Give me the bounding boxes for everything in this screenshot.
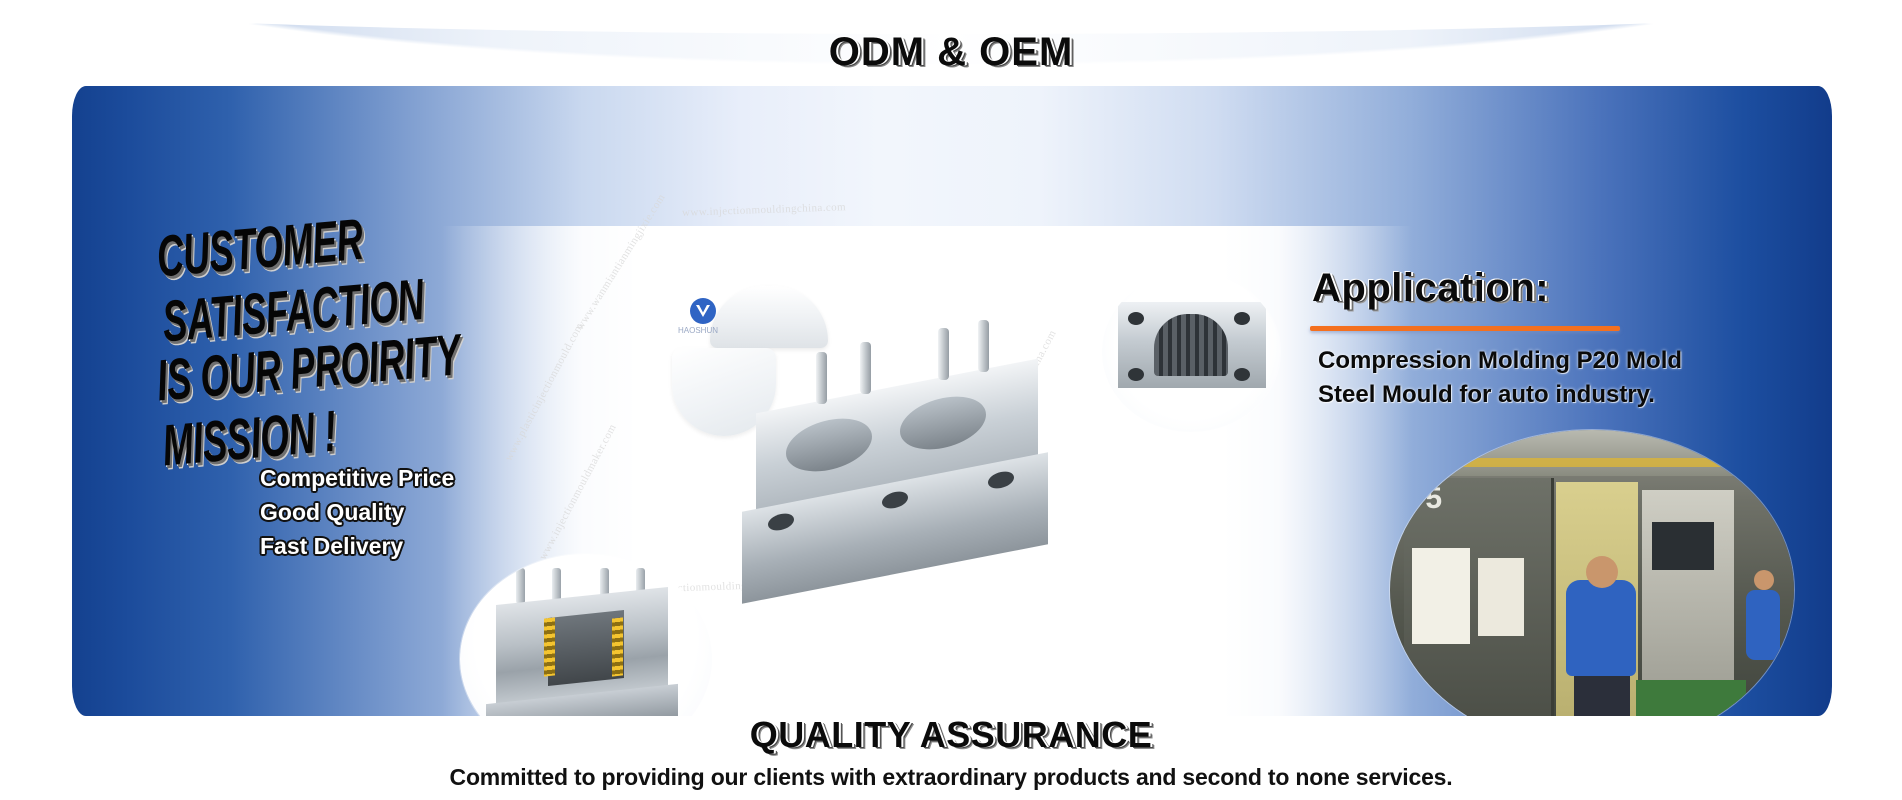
promotional-banner: ODM & OEM ONE-STOP PLASTIC INJECTION SER… <box>0 0 1902 800</box>
cnc-machine-base <box>1636 680 1746 716</box>
crane-beam <box>1390 458 1794 467</box>
worker-head <box>1586 556 1618 588</box>
benefit-item: Competitive Price <box>260 461 454 495</box>
ejector-pin <box>938 328 949 380</box>
application-description: Compression Molding P20 Mold Steel Mould… <box>1318 344 1832 412</box>
ejector-pin <box>816 352 827 404</box>
cnc-workshop-photo: F5 <box>1390 430 1794 716</box>
ejector-pin <box>860 342 871 394</box>
worker-legs <box>1574 672 1630 716</box>
application-description-line-1: Compression Molding P20 Mold <box>1318 344 1832 378</box>
watermark-text: www.injectionmouldingchina.com <box>682 201 846 219</box>
footer-title: QUALITY ASSURANCE <box>0 714 1902 756</box>
page-title: ODM & OEM <box>0 30 1902 75</box>
brand-logo-icon <box>690 298 716 324</box>
mold-bore <box>1128 312 1144 325</box>
guide-pin <box>516 568 525 604</box>
machine-document-sheet <box>1478 558 1524 636</box>
compression-mold-photo <box>1102 272 1280 432</box>
mold-bore <box>1128 368 1144 381</box>
mold-bore <box>1234 312 1250 325</box>
benefits-list: Competitive Price Good Quality Fast Deli… <box>260 461 454 563</box>
ejector-pin <box>978 320 989 372</box>
application-heading: Application: <box>1312 266 1549 311</box>
benefit-item: Good Quality <box>260 495 454 529</box>
footer-subtitle: Committed to providing our clients with … <box>0 764 1902 791</box>
slogan-block: CUSTOMER SATISFACTION IS OUR PROIRITY MI… <box>160 246 660 460</box>
application-description-line-2: Steel Mould for auto industry. <box>1318 378 1832 412</box>
main-injection-mold-photo <box>732 386 1062 606</box>
mold-core-insert <box>1154 314 1228 376</box>
machine-document-sheet <box>1412 548 1470 644</box>
worker-second-head <box>1754 570 1774 590</box>
workshop-ceiling <box>1390 430 1794 476</box>
worker-second <box>1746 590 1780 660</box>
machine-model-label: F5 <box>1408 482 1441 516</box>
return-spring <box>544 617 555 676</box>
benefit-item: Fast Delivery <box>260 529 454 563</box>
cnc-control-screen <box>1652 522 1714 570</box>
application-underline <box>1310 326 1620 331</box>
return-spring <box>612 617 623 676</box>
worker-operator <box>1566 580 1636 676</box>
brand-logo-text: HAOSHUN <box>678 326 718 335</box>
mold-bore <box>1234 368 1250 381</box>
content-stage: www.wanmiantianmingjixie.com www.injecti… <box>72 86 1832 716</box>
